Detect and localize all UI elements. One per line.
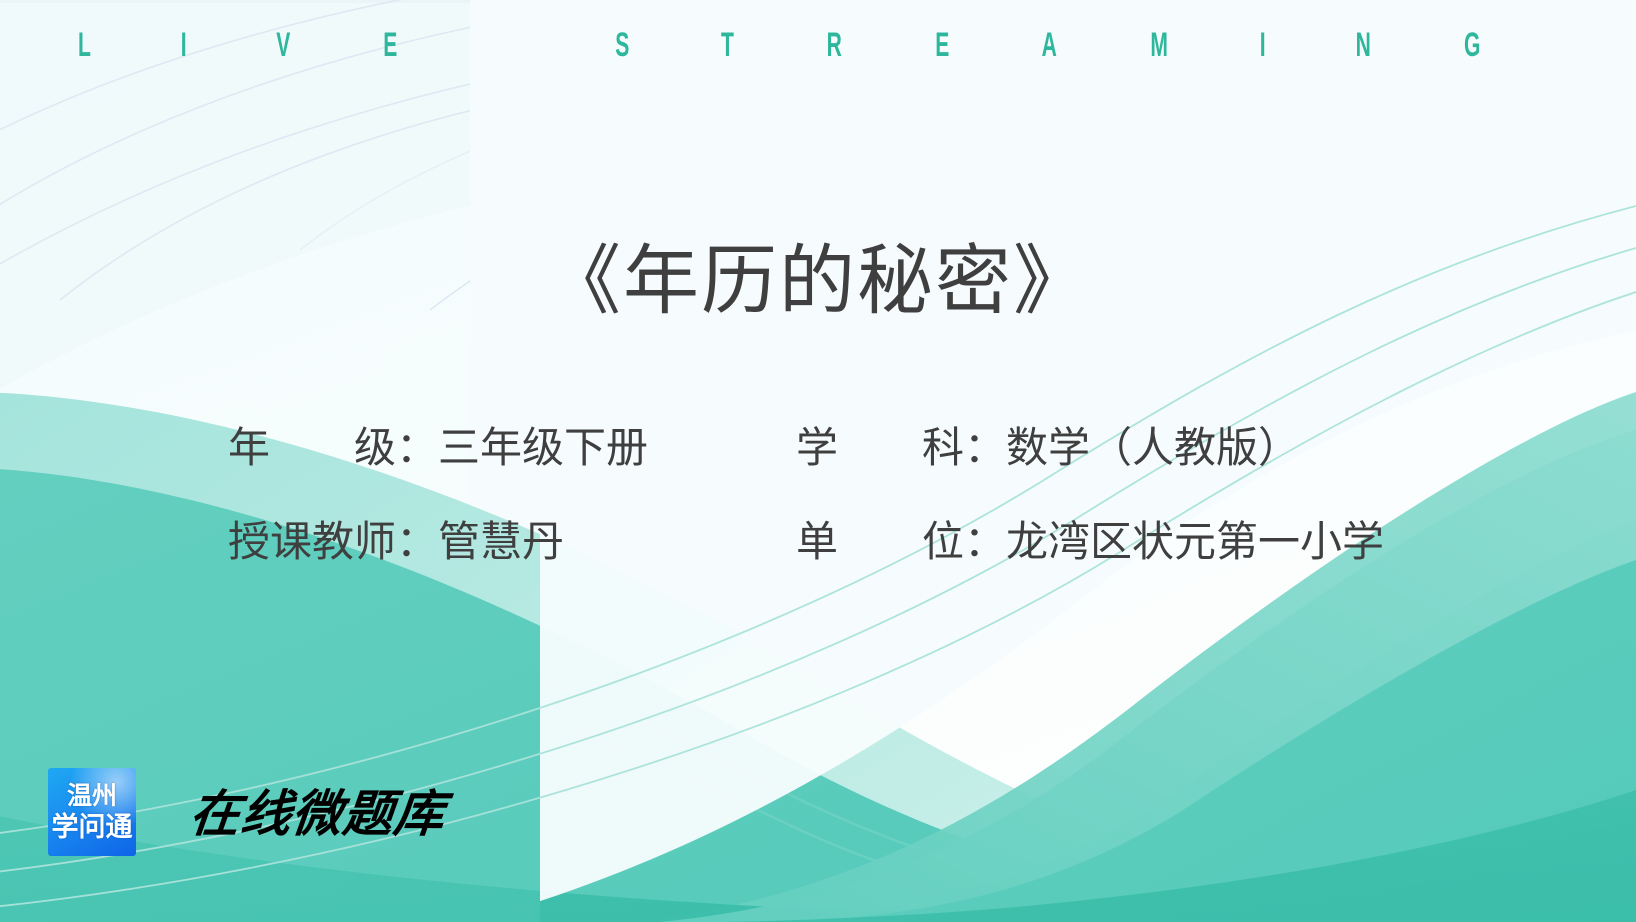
meta-grade: 年 级：三年级下册 — [228, 424, 796, 472]
logo-line-wenzhou: 温州 — [67, 781, 117, 812]
lesson-title: 《年历的秘密》 — [0, 238, 1636, 326]
meta-subject: 学 科：数学（人教版） — [796, 424, 1488, 472]
logo-line-xuewentong: 学问通 — [52, 812, 133, 843]
brand-script-text: 在线微题库 — [187, 786, 448, 842]
brand-lockup: 温州 学问通 在线微题库 — [40, 760, 460, 868]
title-slide: L I V E S T R E A M I N G 《年历的秘密》 年 级：三年… — [0, 0, 1636, 922]
lesson-meta-block: 年 级：三年级下册 学 科：数学（人教版） 授课教师：管慧丹 单 位：龙湾区状元… — [228, 424, 1488, 612]
brand-script-wordmark: 在线微题库 — [190, 772, 460, 856]
meta-teacher: 授课教师：管慧丹 — [228, 518, 796, 566]
meta-row-grade-subject: 年 级：三年级下册 学 科：数学（人教版） — [228, 424, 1488, 518]
meta-school: 单 位：龙湾区状元第一小学 — [796, 518, 1488, 566]
meta-row-teacher-school: 授课教师：管慧丹 单 位：龙湾区状元第一小学 — [228, 518, 1488, 612]
wenzhou-xuewentong-logo: 温州 学问通 — [48, 768, 136, 856]
